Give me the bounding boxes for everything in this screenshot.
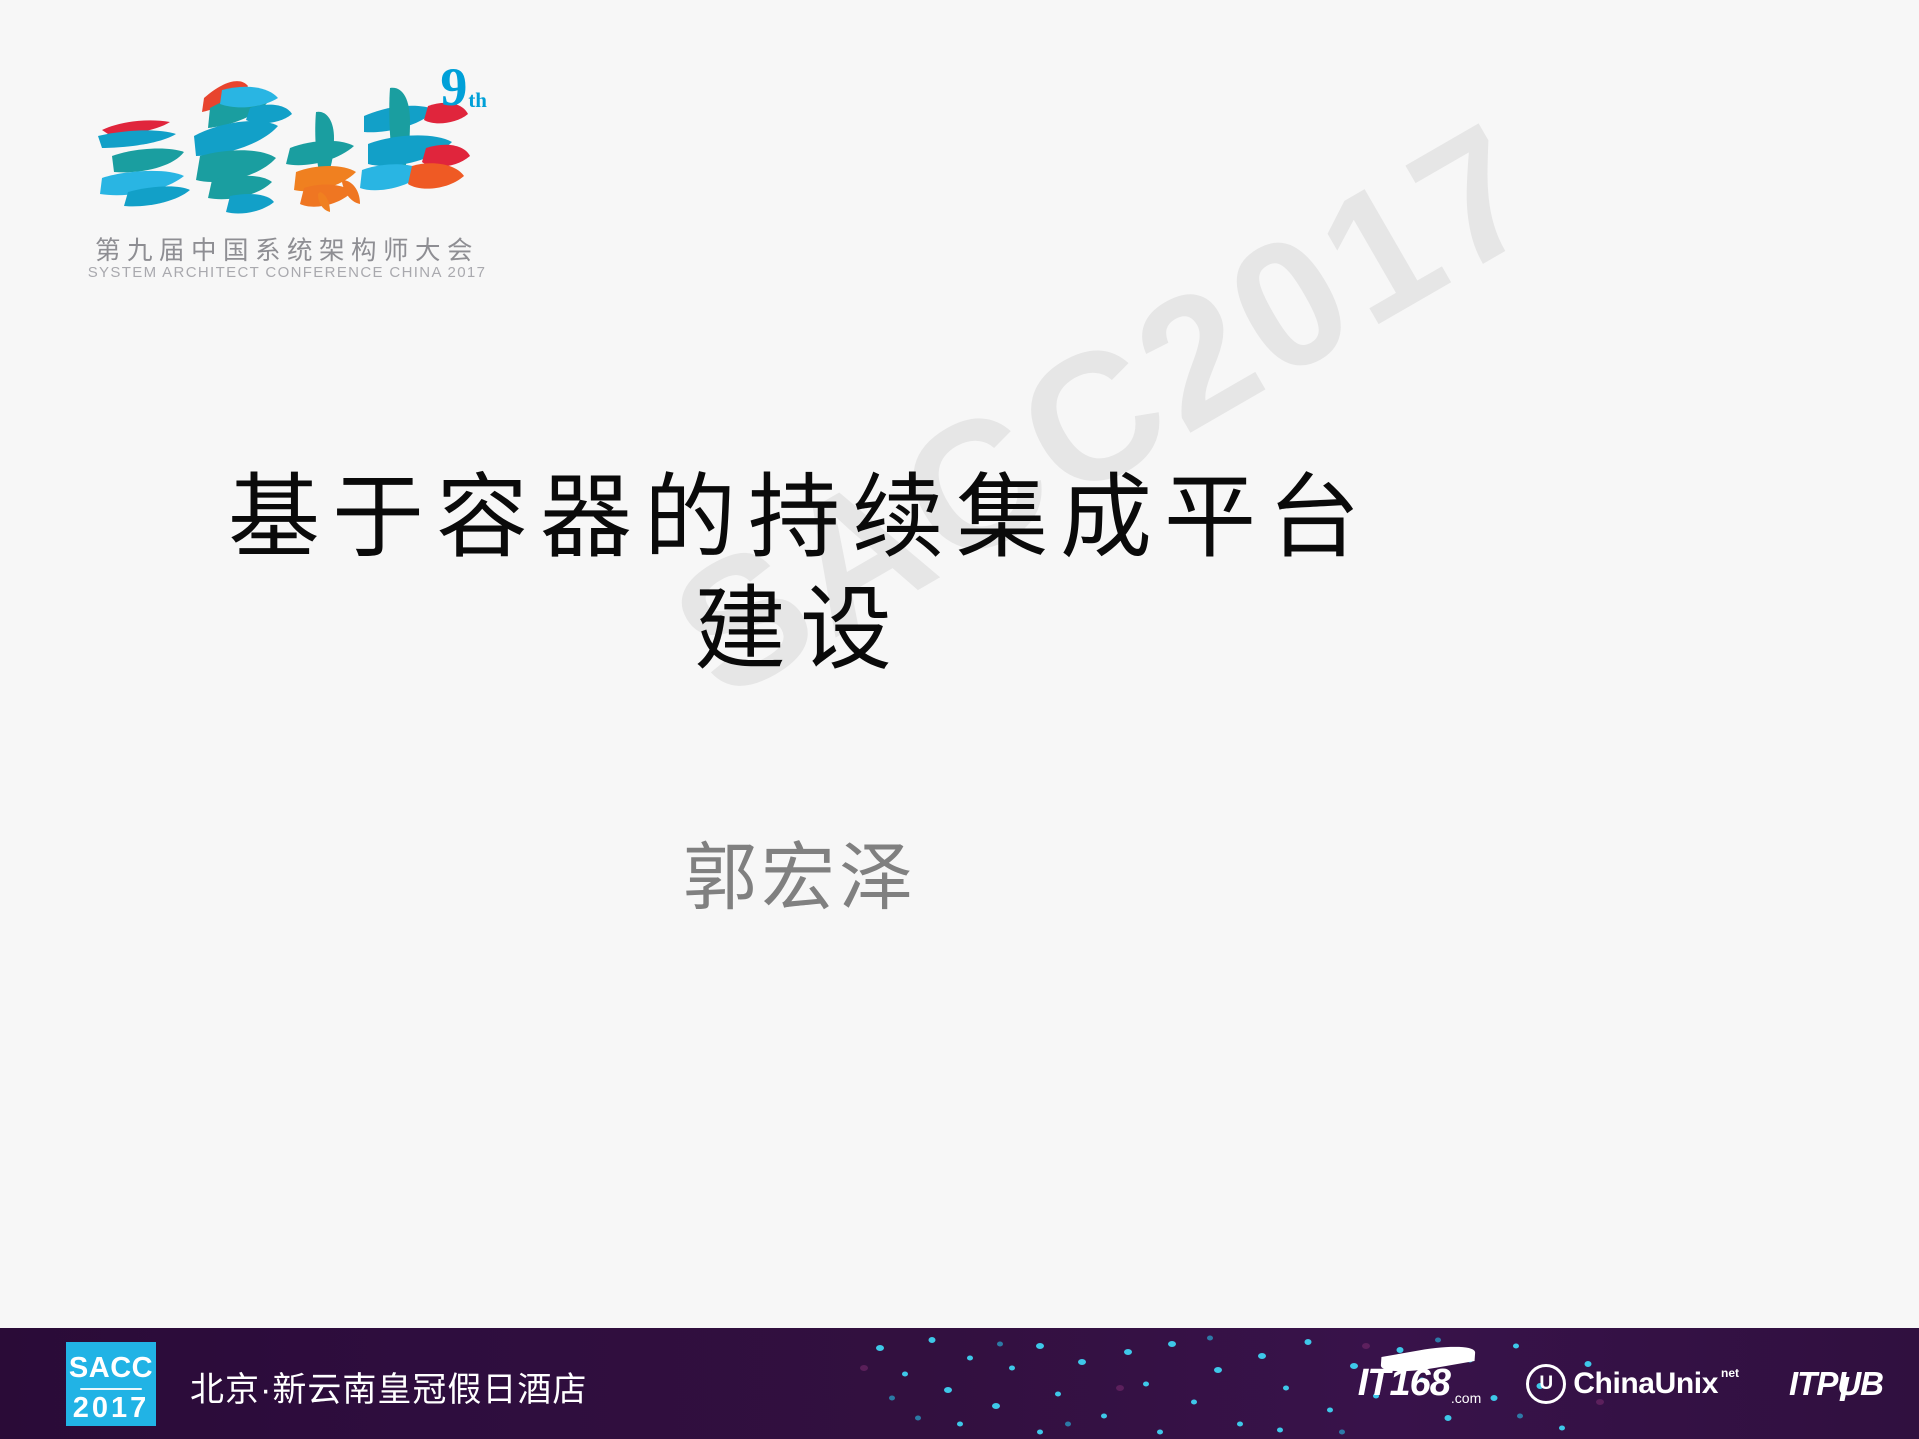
it168-domain-suffix: .com [1451,1390,1481,1406]
sacc-badge-line2: 2017 [66,1394,156,1423]
conference-logo-calligraphy-icon: 9th [72,52,492,227]
chinaunix-ring-icon: U [1526,1364,1566,1404]
page-title: 基于容器的持续集成平台 建设 [180,462,1420,686]
conference-name-en: SYSTEM ARCHITECT CONFERENCE CHINA 2017 [82,264,492,281]
sacc-badge-line1: SACC [66,1342,156,1383]
sponsor-logo-itpub: ITPUB [1789,1365,1883,1403]
sponsor-logo-it168: IT168.com [1358,1362,1481,1405]
sacc-badge: SACC 2017 [66,1342,156,1426]
itpub-wordmark: ITPUB [1789,1365,1883,1402]
edition-number: 9 [440,57,467,117]
sponsor-logo-chinaunix: U ChinaUnixnet [1526,1364,1743,1404]
footer-bar: SACC 2017 北京·新云南皇冠假日酒店 IT168.com U China… [0,1328,1919,1439]
conference-name-cn: 第九届中国系统架构师大会 [82,230,492,267]
presentation-slide: 9th 第九届中国系统架构师大会 SYSTEM ARCHITECT CONFER… [0,0,1919,1439]
sacc-badge-divider [80,1388,142,1390]
title-line-1: 基于容器的持续集成平台 [180,462,1420,574]
presenter-name: 郭宏泽 [180,818,1420,925]
chinaunix-wordmark: ChinaUnix [1573,1367,1718,1401]
conference-edition-badge: 9th [440,60,486,114]
title-line-2: 建设 [180,574,1420,686]
chinaunix-domain-suffix: net [1721,1366,1739,1380]
edition-suffix: th [468,88,487,112]
conference-logo: 9th 第九届中国系统架构师大会 SYSTEM ARCHITECT CONFER… [72,52,512,287]
sponsor-logos: IT168.com U ChinaUnixnet ITPUB [1358,1328,1883,1439]
venue-text: 北京·新云南皇冠假日酒店 [190,1362,587,1411]
